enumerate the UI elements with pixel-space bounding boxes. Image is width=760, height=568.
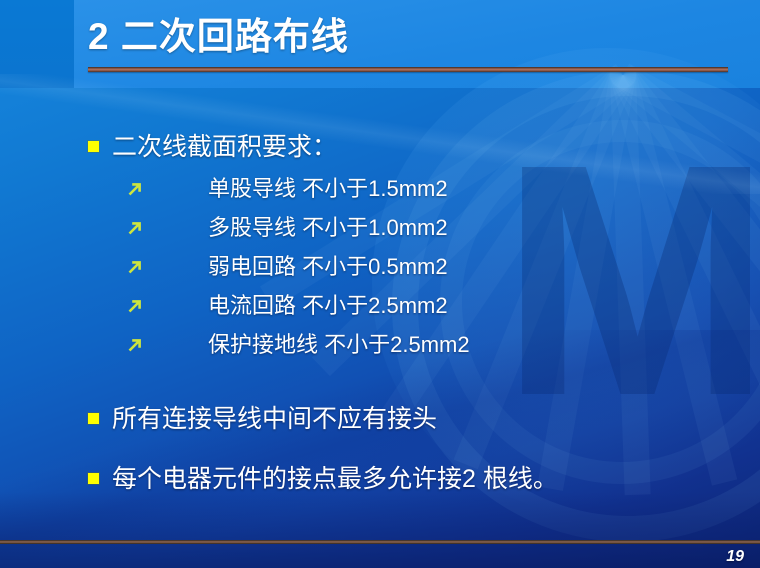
list-item: 二次线截面积要求： bbox=[88, 130, 337, 164]
sub-bullet-text: 单股导线 不小于1.5mm2 bbox=[208, 174, 448, 204]
square-bullet-icon bbox=[88, 473, 99, 484]
page-number: 19 bbox=[726, 548, 744, 566]
square-bullet-icon bbox=[88, 413, 99, 424]
slide-body: 二次线截面积要求： 单股导线 不小于1.5mm2 多股导线 不小于1.0mm2 … bbox=[0, 0, 760, 568]
bullet-text: 所有连接导线中间不应有接头 bbox=[112, 402, 437, 436]
presentation-slide: M 2 二次回路布线 二次线截面积要求： 单股导线 不小于1.5mm2 多股导线… bbox=[0, 0, 760, 568]
footer-divider bbox=[0, 540, 760, 544]
sub-bullet-text: 保护接地线 不小于2.5mm2 bbox=[208, 330, 470, 360]
arrow-up-right-icon bbox=[126, 180, 144, 198]
list-item: 电流回路 不小于2.5mm2 bbox=[126, 291, 448, 321]
bullet-text: 每个电器元件的接点最多允许接2 根线。 bbox=[112, 462, 558, 496]
list-item: 单股导线 不小于1.5mm2 bbox=[126, 174, 448, 204]
bullet-text: 二次线截面积要求： bbox=[112, 130, 337, 164]
sub-bullet-text: 电流回路 不小于2.5mm2 bbox=[208, 291, 448, 321]
list-item: 所有连接导线中间不应有接头 bbox=[88, 402, 437, 436]
list-item: 保护接地线 不小于2.5mm2 bbox=[126, 330, 470, 360]
sub-bullet-text: 弱电回路 不小于0.5mm2 bbox=[208, 252, 448, 282]
arrow-up-right-icon bbox=[126, 219, 144, 237]
list-item: 每个电器元件的接点最多允许接2 根线。 bbox=[88, 462, 558, 496]
arrow-up-right-icon bbox=[126, 297, 144, 315]
list-item: 多股导线 不小于1.0mm2 bbox=[126, 213, 448, 243]
arrow-up-right-icon bbox=[126, 336, 144, 354]
square-bullet-icon bbox=[88, 141, 99, 152]
list-item: 弱电回路 不小于0.5mm2 bbox=[126, 252, 448, 282]
arrow-up-right-icon bbox=[126, 258, 144, 276]
sub-bullet-text: 多股导线 不小于1.0mm2 bbox=[208, 213, 448, 243]
